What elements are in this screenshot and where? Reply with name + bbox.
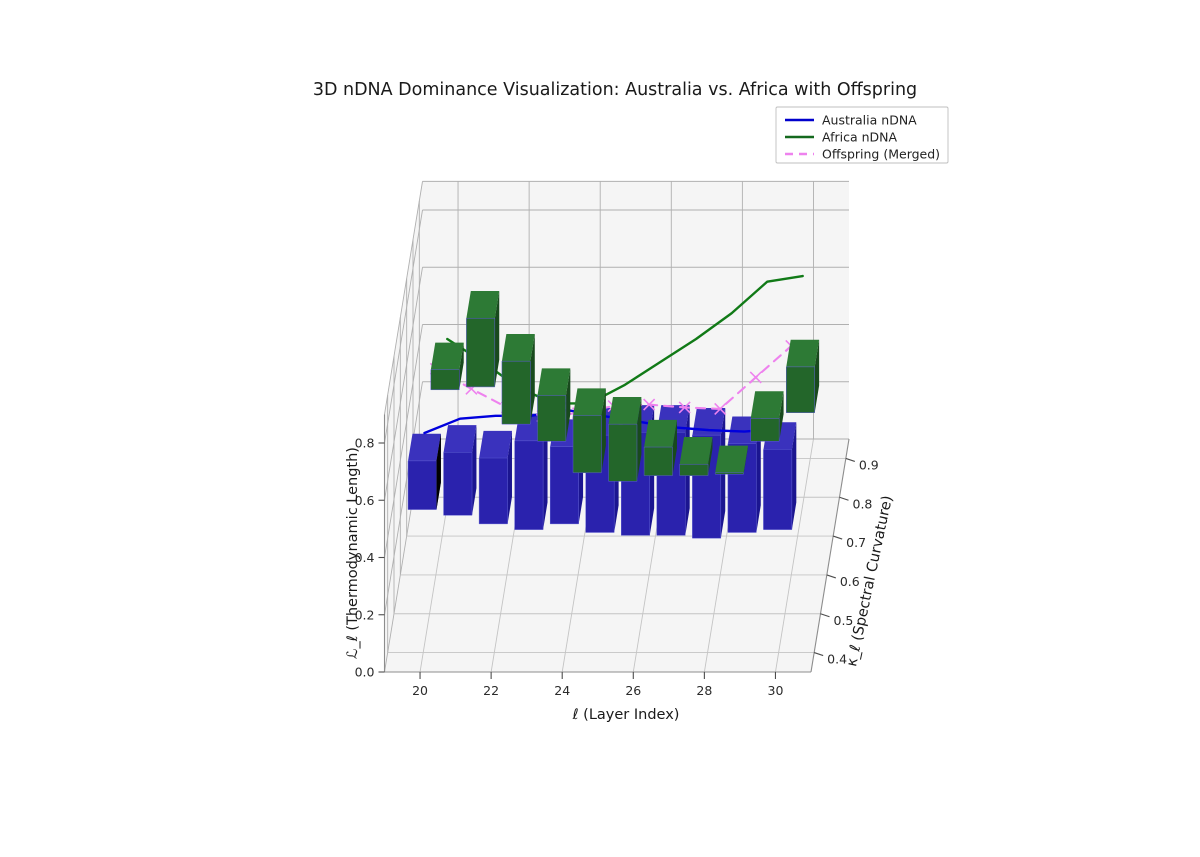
y-tick-label: 0.7 [846,535,866,550]
bar-africa [786,340,819,413]
x-tick-label: 24 [554,683,570,698]
page-title: 3D nDNA Dominance Visualization: Austral… [313,80,917,100]
y-tick-label: 0.6 [840,574,860,589]
bar-africa [644,420,677,476]
bar-africa [537,368,570,441]
legend-label: Australia nDNA [822,113,917,128]
z-axis-ticks [379,443,385,672]
figure-canvas: 202224262830ℓ (Layer Index)0.00.20.40.60… [0,0,1200,857]
x-axis-label: ℓ (Layer Index) [572,707,680,723]
bar-africa [431,343,464,390]
legend-label: Africa nDNA [822,130,898,145]
bar-australia [479,431,512,524]
bar-africa [715,446,748,475]
bar-africa [466,291,499,387]
x-axis-ticks [420,672,775,679]
x-tick-label: 30 [768,683,784,698]
bar-australia [444,425,477,515]
bar-africa [573,388,606,472]
x-tick-label: 20 [412,683,428,698]
z-tick-label: 0.0 [355,665,375,680]
y-tick-label: 0.9 [859,457,879,472]
bar-africa [680,437,713,476]
x-tick-label: 22 [483,683,499,698]
bar-africa [609,397,642,481]
x-tick-label: 26 [625,683,641,698]
bar-africa [502,334,535,424]
x-tick-label: 28 [696,683,712,698]
legend-label: Offspring (Merged) [822,147,940,162]
z-axis-label: ℒ_ℓ (Thermodynamic Length) [345,447,361,659]
bar-africa [751,391,784,441]
y-tick-label: 0.8 [853,496,873,511]
y-tick-label: 0.5 [834,613,854,628]
bar-australia [408,434,441,510]
